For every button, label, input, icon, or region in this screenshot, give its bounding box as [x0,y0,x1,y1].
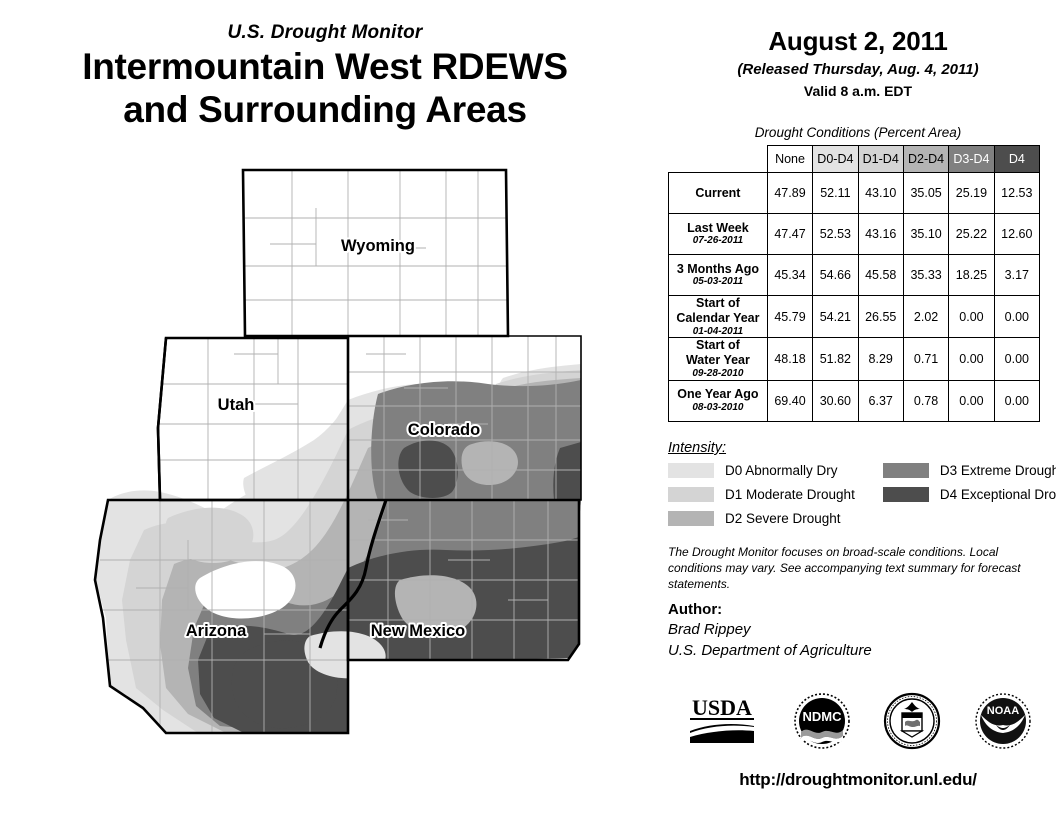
row-label-start-of-water-year: Start of Water Year 09-28-2010 [669,338,768,380]
website-url[interactable]: http://droughtmonitor.unl.edu/ [660,770,1056,790]
cell-d4: 0.00 [994,338,1039,380]
cell-d2-d4: 35.33 [903,255,948,296]
cell-d0-d4: 52.11 [813,173,858,214]
author-name: Brad Rippey [668,620,1038,640]
cell-d4: 12.60 [994,214,1039,255]
table-row: Start of Water Year 09-28-2010 48.18 51.… [669,338,1040,380]
cell-d1-d4: 26.55 [858,296,903,338]
cell-d2-d4: 0.78 [903,380,948,421]
row-label-text: Start of Water Year [669,338,767,368]
state-label-colorado: Colorado [408,421,480,439]
drought-map-svg[interactable]: Wyoming Utah Colorado Arizona New Mexico [48,148,648,788]
state-label-wyoming: Wyoming [341,237,415,255]
author-block: Author: Brad Rippey U.S. Department of A… [668,600,1038,661]
row-label-date: 07-26-2011 [669,235,767,247]
legend-swatch-d3 [883,463,929,478]
legend-swatch-d0 [668,463,714,478]
cell-d2-d4: 0.71 [903,338,948,380]
map-panel: U.S. Drought Monitor Intermountain West … [0,0,660,816]
cell-d3-d4: 25.19 [949,173,994,214]
table-row: 3 Months Ago 05-03-2011 45.34 54.66 45.5… [669,255,1040,296]
cell-d1-d4: 6.37 [858,380,903,421]
table-row: One Year Ago 08-03-2010 69.40 30.60 6.37… [669,380,1040,421]
cell-none: 69.40 [767,380,812,421]
cell-d0-d4: 30.60 [813,380,858,421]
row-label-text: Current [669,186,767,201]
author-organization: U.S. Department of Agriculture [668,641,1038,661]
info-panel: August 2, 2011 (Released Thursday, Aug. … [660,0,1056,816]
table-row: Start of Calendar Year 01-04-2011 45.79 … [669,296,1040,338]
intensity-legend: Intensity: D0 Abnormally Dry D1 Moderate… [668,440,1048,526]
cell-none: 47.89 [767,173,812,214]
row-label-text: 3 Months Ago [669,262,767,277]
row-label-date: 01-04-2011 [669,326,767,338]
cell-d2-d4: 35.05 [903,173,948,214]
state-label-utah: Utah [218,396,255,414]
cell-d4: 0.00 [994,380,1039,421]
disclaimer-text: The Drought Monitor focuses on broad-sca… [668,545,1038,592]
legend-item-d0: D0 Abnormally Dry [668,463,855,478]
release-date: August 2, 2011 [660,26,1056,57]
usdc-seal[interactable] [883,692,941,750]
title-line-2: and Surrounding Areas [0,90,650,130]
legend-label-d3: D3 Extreme Drought [940,463,1056,478]
row-label-one-year-ago: One Year Ago 08-03-2010 [669,380,768,421]
table-caption: Drought Conditions (Percent Area) [660,125,1056,140]
cell-none: 45.79 [767,296,812,338]
noaa-logo[interactable]: NOAA [974,692,1032,750]
cell-d4: 3.17 [994,255,1039,296]
state-label-new-mexico: New Mexico [371,622,465,640]
cell-none: 45.34 [767,255,812,296]
state-label-arizona: Arizona [186,622,247,640]
table-row: Last Week 07-26-2011 47.47 52.53 43.16 3… [669,214,1040,255]
column-header-d1-d4: D1-D4 [858,146,903,173]
table-header-row: None D0-D4 D1-D4 D2-D4 D3-D4 D4 [669,146,1040,173]
row-label-date: 09-28-2010 [669,368,767,380]
table-row: Current 47.89 52.11 43.10 35.05 25.19 12… [669,173,1040,214]
legend-item-d2: D2 Severe Drought [668,511,855,526]
svg-text:NOAA: NOAA [987,705,1019,717]
page-title: U.S. Drought Monitor Intermountain West … [0,22,650,129]
cell-d0-d4: 54.21 [813,296,858,338]
cell-none: 47.47 [767,214,812,255]
cell-d0-d4: 51.82 [813,338,858,380]
column-header-none: None [767,146,812,173]
author-heading: Author: [668,600,1038,620]
cell-d4: 0.00 [994,296,1039,338]
column-header-d0-d4: D0-D4 [813,146,858,173]
table-corner-cell [669,146,768,173]
cell-d3-d4: 18.25 [949,255,994,296]
valid-time-text: Valid 8 a.m. EDT [660,83,1056,99]
cell-d3-d4: 25.22 [949,214,994,255]
row-label-current: Current [669,173,768,214]
legend-swatch-d4 [883,487,929,502]
row-label-3-months-ago: 3 Months Ago 05-03-2011 [669,255,768,296]
legend-swatch-d2 [668,511,714,526]
cell-d1-d4: 45.58 [858,255,903,296]
cell-d2-d4: 35.10 [903,214,948,255]
svg-text:NDMC: NDMC [802,709,842,724]
column-header-d2-d4: D2-D4 [903,146,948,173]
cell-d4: 12.53 [994,173,1039,214]
svg-text:USDA: USDA [692,695,752,720]
table-body: Current 47.89 52.11 43.10 35.05 25.19 12… [669,173,1040,422]
column-header-d3-d4: D3-D4 [949,146,994,173]
cell-d0-d4: 54.66 [813,255,858,296]
cell-none: 48.18 [767,338,812,380]
drought-map[interactable]: Wyoming Utah Colorado Arizona New Mexico [48,148,648,788]
row-label-date: 05-03-2011 [669,276,767,288]
title-line-1: Intermountain West RDEWS [0,47,650,87]
cell-d3-d4: 0.00 [949,380,994,421]
legend-label-d1: D1 Moderate Drought [725,487,855,502]
legend-swatch-d1 [668,487,714,502]
date-block: August 2, 2011 (Released Thursday, Aug. … [660,26,1056,99]
row-label-last-week: Last Week 07-26-2011 [669,214,768,255]
column-header-d4: D4 [994,146,1039,173]
cell-d1-d4: 8.29 [858,338,903,380]
legend-item-d3: D3 Extreme Drought [883,463,1056,478]
legend-item-d4: D4 Exceptional Drought [883,487,1056,502]
cell-d0-d4: 52.53 [813,214,858,255]
row-label-text: Start of Calendar Year [669,296,767,326]
drought-conditions-table: None D0-D4 D1-D4 D2-D4 D3-D4 D4 Current … [668,145,1040,422]
legend-label-d2: D2 Severe Drought [725,511,841,526]
usda-logo[interactable]: USDA [684,693,760,749]
cell-d2-d4: 2.02 [903,296,948,338]
released-text: (Released Thursday, Aug. 4, 2011) [660,61,1056,78]
cell-d3-d4: 0.00 [949,296,994,338]
row-label-date: 08-03-2010 [669,402,767,414]
cell-d1-d4: 43.16 [858,214,903,255]
row-label-text: One Year Ago [669,387,767,402]
logo-row: USDA NDMC NOAA [660,685,1056,757]
legend-title: Intensity: [668,440,1048,456]
row-label-start-of-calendar-year: Start of Calendar Year 01-04-2011 [669,296,768,338]
legend-label-d0: D0 Abnormally Dry [725,463,838,478]
cell-d3-d4: 0.00 [949,338,994,380]
title-supertitle: U.S. Drought Monitor [0,22,650,44]
ndmc-logo[interactable]: NDMC [793,692,851,750]
cell-d1-d4: 43.10 [858,173,903,214]
row-label-text: Last Week [669,221,767,236]
legend-item-d1: D1 Moderate Drought [668,487,855,502]
legend-label-d4: D4 Exceptional Drought [940,487,1056,502]
